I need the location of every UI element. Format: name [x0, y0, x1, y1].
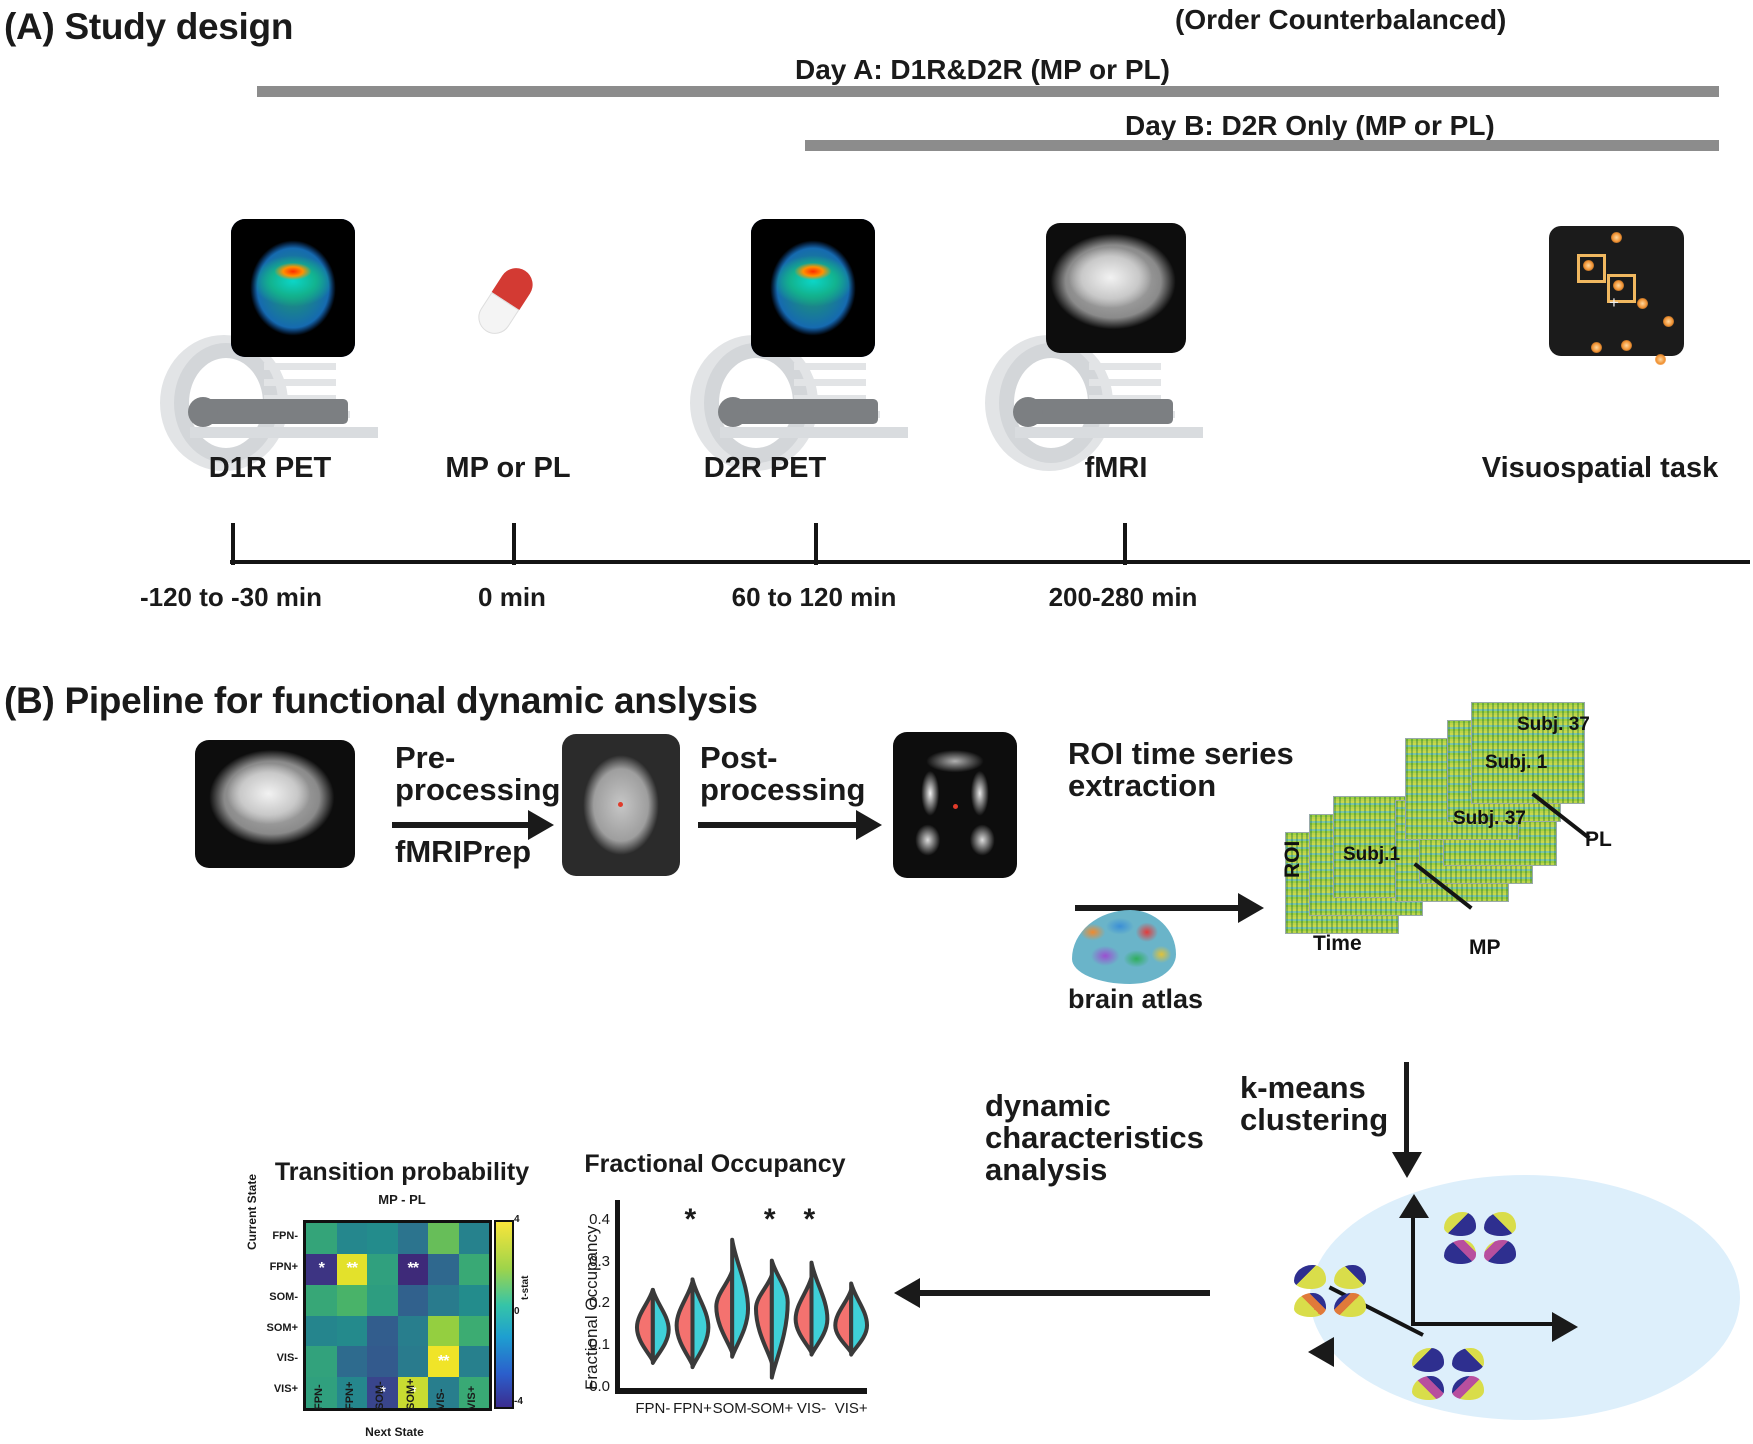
heatmap-col-label: SOM-: [374, 1381, 386, 1410]
timeline-tick-2: [512, 523, 516, 565]
significance-star: *: [319, 1261, 324, 1277]
arrowhead-roi-extraction: [1238, 893, 1264, 923]
heatmap-cell[interactable]: [459, 1254, 490, 1285]
heatmap-cell[interactable]: [398, 1285, 429, 1316]
stack-sheet-label-2: Subj. 1: [1485, 752, 1547, 774]
fmriprep-label: fMRIPrep: [395, 836, 531, 868]
heatmap-cell[interactable]: **: [428, 1346, 459, 1377]
heatmap-cell[interactable]: [459, 1316, 490, 1347]
violin-half-pl[interactable]: [732, 1240, 748, 1357]
violin-significance-star: *: [685, 1205, 697, 1235]
brain-state-space: [1310, 1175, 1740, 1420]
fractional-occupancy-violin-plot[interactable]: [615, 1200, 865, 1395]
panel-a-title: (A) Study design: [4, 6, 293, 48]
step-label-d1r-pet: D1R PET: [150, 452, 390, 485]
timeseries-stack: Subj.1 Subj. 37 Subj. 1 Subj. 37 ROI Tim…: [1285, 700, 1725, 950]
heatmap-cell[interactable]: [428, 1316, 459, 1347]
heatmap-cell[interactable]: [367, 1223, 398, 1254]
brain-atlas-icon: [1072, 910, 1176, 984]
colorbar-tick-mid: 0: [514, 1306, 520, 1317]
brain-atlas-label: brain atlas: [1068, 985, 1203, 1013]
heatmap-cell[interactable]: [367, 1346, 398, 1377]
axis-y-3d: [1411, 1205, 1415, 1325]
stack-axis-mp: MP: [1469, 936, 1501, 960]
heatmap-cell[interactable]: [337, 1285, 368, 1316]
raw-fmri-image: [195, 740, 355, 868]
heatmap-colorbar: [494, 1220, 514, 1409]
heatmap-cell[interactable]: [306, 1346, 337, 1377]
heatmap-cell[interactable]: **: [398, 1254, 429, 1285]
violin-y-tick: 0.1: [578, 1336, 610, 1353]
step-label-visuospatial-task: Visuospatial task: [1440, 452, 1753, 485]
arrowhead-postprocessing: [856, 810, 882, 840]
fractional-occupancy-title: Fractional Occupancy: [565, 1150, 865, 1179]
violin-y-tick: 0.4: [578, 1211, 610, 1228]
arrow-preprocessing: [392, 822, 530, 828]
violin-half-mp[interactable]: [677, 1281, 693, 1365]
heatmap-cell[interactable]: [428, 1223, 459, 1254]
preprocessed-brain-image: [562, 734, 680, 876]
stack-sheet-label-0: Subj.1: [1343, 844, 1400, 866]
denoised-brain-image: [893, 732, 1017, 878]
arrowhead-z-3d: [1308, 1337, 1334, 1367]
timeline-label-2: 0 min: [432, 582, 592, 613]
violin-half-mp[interactable]: [835, 1290, 851, 1353]
violin-y-tick: 0.3: [578, 1253, 610, 1270]
stack-axis-roi: ROI: [1281, 841, 1305, 878]
heatmap-cell[interactable]: [459, 1285, 490, 1316]
arrow-roi-extraction: [1075, 905, 1240, 911]
heatmap-cell[interactable]: **: [337, 1254, 368, 1285]
d1r-pet-image: [231, 219, 355, 357]
heatmap-row-label: FPN-: [252, 1230, 298, 1242]
order-counterbalanced-note: (Order Counterbalanced): [1175, 4, 1506, 36]
timeline-axis: [230, 560, 1750, 564]
heatmap-cell[interactable]: [337, 1316, 368, 1347]
day-b-bar: [805, 140, 1719, 151]
heatmap-row-label: VIS-: [252, 1352, 298, 1364]
heatmap-cell[interactable]: [306, 1316, 337, 1347]
fixation-cross-icon: +: [1609, 294, 1619, 311]
step-label-mp-or-pl: MP or PL: [388, 452, 628, 485]
heatmap-col-label: SOM+: [405, 1379, 417, 1410]
colorbar-tick-max: 4: [514, 1214, 520, 1225]
violin-y-tick: 0.2: [578, 1294, 610, 1311]
timeline-label-4: 200-280 min: [1008, 582, 1238, 613]
colorbar-tick-min: -4: [514, 1396, 523, 1407]
heatmap-cell[interactable]: [337, 1346, 368, 1377]
timeline-tick-3: [814, 523, 818, 565]
stack-axis-time: Time: [1313, 932, 1362, 956]
timeline-label-1: -120 to -30 min: [111, 582, 351, 613]
panel-b-title: (B) Pipeline for functional dynamic ansl…: [4, 680, 758, 722]
violin-half-mp[interactable]: [756, 1275, 772, 1363]
heatmap-cell[interactable]: [428, 1285, 459, 1316]
violin-half-mp[interactable]: [716, 1271, 732, 1352]
heatmap-row-label: SOM+: [252, 1322, 298, 1334]
heatmap-row-label: FPN+: [252, 1261, 298, 1273]
heatmap-cell[interactable]: [367, 1285, 398, 1316]
roi-extraction-label: ROI time series extraction: [1068, 738, 1318, 802]
violin-half-pl[interactable]: [693, 1279, 709, 1367]
brain-state-cluster-2: [1294, 1265, 1372, 1321]
violin-significance-star: *: [804, 1205, 816, 1235]
stack-sheet-label-3: Subj. 37: [1517, 714, 1590, 736]
heatmap-row-label: VIS+: [252, 1383, 298, 1395]
arrow-kmeans: [1404, 1062, 1409, 1158]
timeline-tick-1: [231, 523, 235, 565]
fmri-sagittal-image: [1046, 223, 1186, 353]
arrowhead-preprocessing: [528, 810, 554, 840]
heatmap-cell[interactable]: [306, 1223, 337, 1254]
heatmap-col-label: VIS+: [466, 1386, 478, 1410]
significance-star: **: [347, 1261, 357, 1277]
stack-axis-pl: PL: [1585, 828, 1612, 852]
arrowhead-kmeans: [1392, 1152, 1422, 1178]
violin-significance-star: *: [764, 1205, 776, 1235]
step-label-d2r-pet: D2R PET: [640, 452, 890, 485]
heatmap-cell[interactable]: [398, 1223, 429, 1254]
arrow-postprocessing: [698, 822, 858, 828]
violin-half-pl[interactable]: [812, 1263, 828, 1355]
brain-state-cluster-1: [1444, 1212, 1522, 1268]
axis-x-3d: [1411, 1322, 1556, 1326]
violin-category-label: VIS+: [828, 1400, 874, 1417]
step-label-fmri: fMRI: [996, 452, 1236, 485]
heatmap-cell[interactable]: [398, 1346, 429, 1377]
transition-probability-title: Transition probability: [252, 1158, 552, 1187]
visuospatial-task-icon: +: [1549, 226, 1684, 356]
kmeans-label: k-means clustering: [1240, 1072, 1440, 1136]
heatmap-cell[interactable]: [459, 1346, 490, 1377]
violin-y-tick: 0.0: [578, 1378, 610, 1395]
violin-half-mp[interactable]: [796, 1277, 812, 1352]
colorbar-label: t-stat: [520, 1276, 531, 1300]
timeline-tick-4: [1123, 523, 1127, 565]
heatmap-cell[interactable]: *: [306, 1254, 337, 1285]
violin-half-pl[interactable]: [851, 1284, 867, 1355]
day-a-bar: [257, 86, 1719, 97]
heatmap-cell[interactable]: [459, 1223, 490, 1254]
pill-icon: [472, 262, 539, 340]
violin-half-pl[interactable]: [653, 1290, 669, 1363]
postprocessing-label: Post- processing: [700, 742, 870, 806]
timeline-label-3: 60 to 120 min: [694, 582, 934, 613]
heatmap-col-label: FPN-: [313, 1384, 325, 1410]
heatmap-cell[interactable]: [398, 1316, 429, 1347]
heatmap-cell[interactable]: [306, 1285, 337, 1316]
dynamic-analysis-label: dynamic characteristics analysis: [985, 1090, 1215, 1187]
arrowhead-dynamic-analysis: [894, 1278, 920, 1308]
heatmap-xlabel: Next State: [303, 1425, 486, 1439]
significance-star: **: [438, 1354, 448, 1370]
transition-probability-subtitle: MP - PL: [252, 1192, 552, 1207]
heatmap-cell[interactable]: [367, 1316, 398, 1347]
stack-sheet-label-1: Subj. 37: [1453, 808, 1526, 830]
violin-shapes: [619, 1200, 871, 1390]
brain-state-cluster-3: [1412, 1348, 1490, 1404]
day-b-label: Day B: D2R Only (MP or PL): [1125, 110, 1495, 142]
preprocessing-label: Pre- processing: [395, 742, 560, 806]
transition-probability-heatmap[interactable]: *********: [303, 1220, 492, 1411]
heatmap-col-label: VIS-: [435, 1389, 447, 1410]
heatmap-col-label: FPN+: [344, 1382, 356, 1410]
violin-half-mp[interactable]: [637, 1290, 653, 1361]
violin-half-pl[interactable]: [772, 1261, 788, 1378]
d2r-pet-image: [751, 219, 875, 357]
day-a-label: Day A: D1R&D2R (MP or PL): [795, 54, 1170, 86]
heatmap-row-label: SOM-: [252, 1291, 298, 1303]
arrowhead-y-3d: [1399, 1194, 1429, 1218]
heatmap-cell[interactable]: [367, 1254, 398, 1285]
arrowhead-x-3d: [1552, 1312, 1578, 1342]
significance-star: **: [408, 1261, 418, 1277]
heatmap-cell[interactable]: [428, 1254, 459, 1285]
heatmap-cell[interactable]: [337, 1223, 368, 1254]
arrow-dynamic-analysis: [920, 1290, 1210, 1296]
